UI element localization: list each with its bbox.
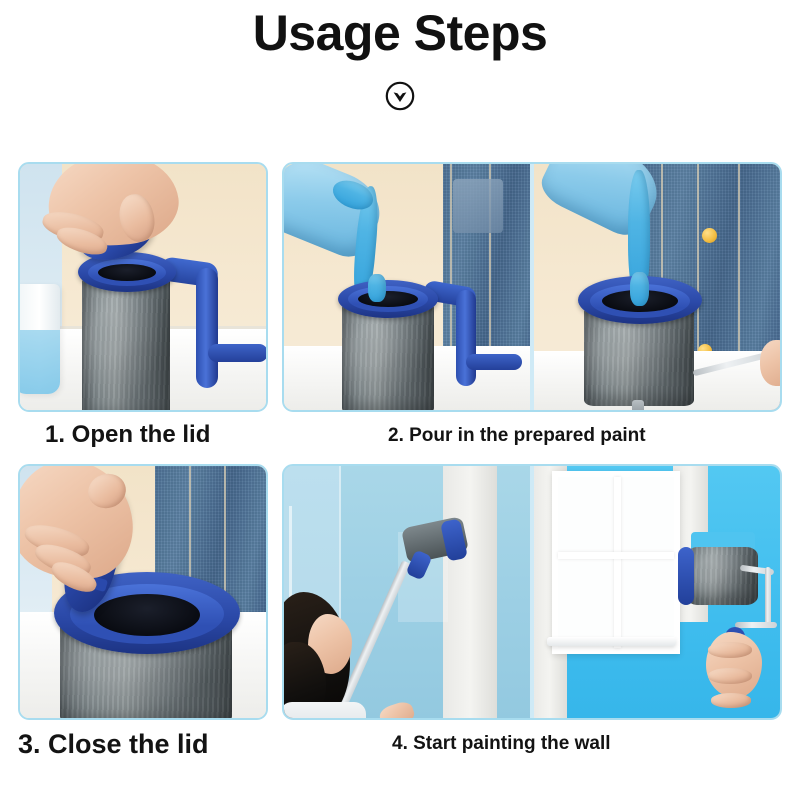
scene-woman-painting <box>284 466 532 718</box>
step-2-caption: 2. Pour in the prepared paint <box>388 425 646 447</box>
cup-liquid <box>20 330 60 394</box>
roller-pin <box>632 400 644 410</box>
shirt-button <box>702 228 717 243</box>
roller-end-cap <box>678 547 694 605</box>
header: Usage Steps <box>0 0 800 150</box>
window <box>552 471 681 654</box>
denim-pocket <box>453 179 503 233</box>
scene-pour-paint-closeup <box>532 164 780 410</box>
scene-window-painting <box>532 466 780 718</box>
chevron-down-circle-icon <box>382 78 418 114</box>
wall-column <box>443 466 498 718</box>
step-4-caption: 4. Start painting the wall <box>392 733 611 755</box>
window-mullion-vertical <box>614 477 621 648</box>
paint-entering-roller <box>368 274 386 302</box>
window-sill <box>547 637 676 646</box>
roller-opening <box>94 594 200 636</box>
step-3-image <box>18 464 268 720</box>
paint-entering-roller <box>630 272 649 306</box>
roller-handle-grip <box>208 344 266 362</box>
scene-open-lid <box>20 164 266 410</box>
step-1-caption: 1. Open the lid <box>45 421 210 449</box>
roller-handle-arm <box>196 268 218 388</box>
roller-frame-arm <box>765 567 771 627</box>
image-divider <box>530 164 534 410</box>
finger <box>711 693 751 708</box>
finger <box>708 668 752 684</box>
paint-roller-body <box>342 302 434 410</box>
paint-roller-body <box>686 547 758 605</box>
window-mullion-horizontal <box>558 552 675 559</box>
roller-opening <box>98 264 156 281</box>
scene-painting-wall <box>284 466 780 718</box>
scene-pour-paint <box>284 164 780 410</box>
roller-opening <box>358 291 418 307</box>
step-2-image <box>282 162 782 412</box>
image-divider <box>530 466 534 718</box>
step-4-image <box>282 464 782 720</box>
roller-handle-grip <box>466 354 522 370</box>
scene-close-lid <box>20 466 266 718</box>
page-title: Usage Steps <box>0 4 800 63</box>
step-3-caption: 3. Close the lid <box>18 729 209 760</box>
infographic-page: Usage Steps <box>0 0 800 800</box>
roller-handle-arm <box>456 290 476 386</box>
paint-cup <box>20 284 60 394</box>
scene-pour-paint-wide <box>284 164 532 410</box>
woman-shirt <box>284 702 366 718</box>
roller-frame-lower <box>735 622 777 628</box>
paint-roller-body <box>82 276 170 410</box>
step-1-image <box>18 162 268 412</box>
